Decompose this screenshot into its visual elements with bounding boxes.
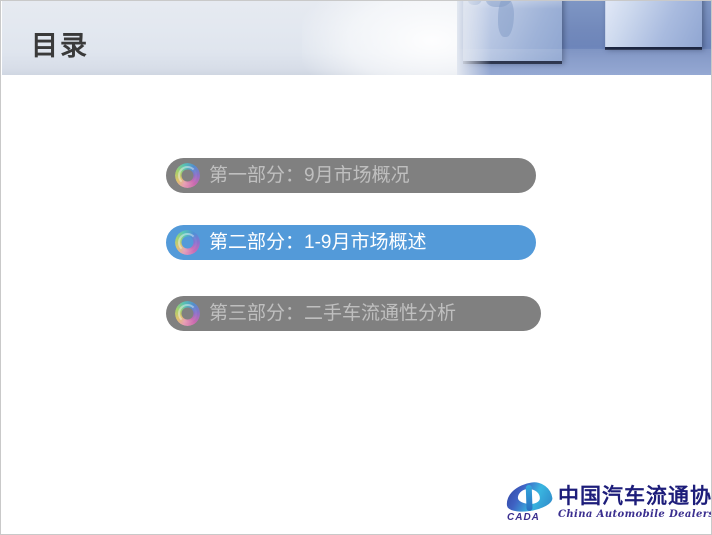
toc-item-part-1[interactable]: 第一部分：9月市场概况	[166, 158, 536, 193]
swoosh-glyph-icon	[504, 480, 553, 514]
cada-logo: CADA 中国汽车流通协会 China Automobile Dealers A…	[504, 479, 704, 525]
iridescent-ring-icon	[175, 301, 200, 326]
association-name-cn: 中国汽车流通协会	[558, 484, 712, 508]
cada-acronym: CADA	[507, 512, 540, 523]
iridescent-ring-icon	[175, 230, 200, 255]
floor-reflection	[457, 49, 712, 75]
toc-item-part-3[interactable]: 第三部分：二手车流通性分析	[166, 296, 541, 331]
iridescent-ring-icon	[175, 163, 200, 188]
presentation-slide: 目录 第一部分：9月市场概况 第二部分：1-9月市场概述 第三部分：二手车流通性…	[0, 0, 712, 535]
world-map-texture	[468, 1, 482, 5]
table-of-contents: 第一部分：9月市场概况 第二部分：1-9月市场概述 第三部分：二手车流通性分析	[166, 158, 566, 331]
toc-item-label: 第三部分：二手车流通性分析	[209, 303, 456, 325]
cube-graphic-2	[605, 1, 702, 47]
toc-item-part-2[interactable]: 第二部分：1-9月市场概述	[166, 225, 536, 260]
page-title: 目录	[31, 30, 89, 62]
association-name-en: China Automobile Dealers Association	[558, 508, 712, 521]
toc-item-label: 第二部分：1-9月市场概述	[209, 232, 426, 254]
slide-header-band: 目录	[2, 1, 712, 75]
blue-cubes-artwork	[457, 1, 712, 75]
cada-emblem-icon: CADA	[504, 480, 554, 524]
toc-item-label: 第一部分：9月市场概况	[209, 165, 410, 187]
cada-logo-text: 中国汽车流通协会 China Automobile Dealers Associ…	[558, 484, 712, 521]
